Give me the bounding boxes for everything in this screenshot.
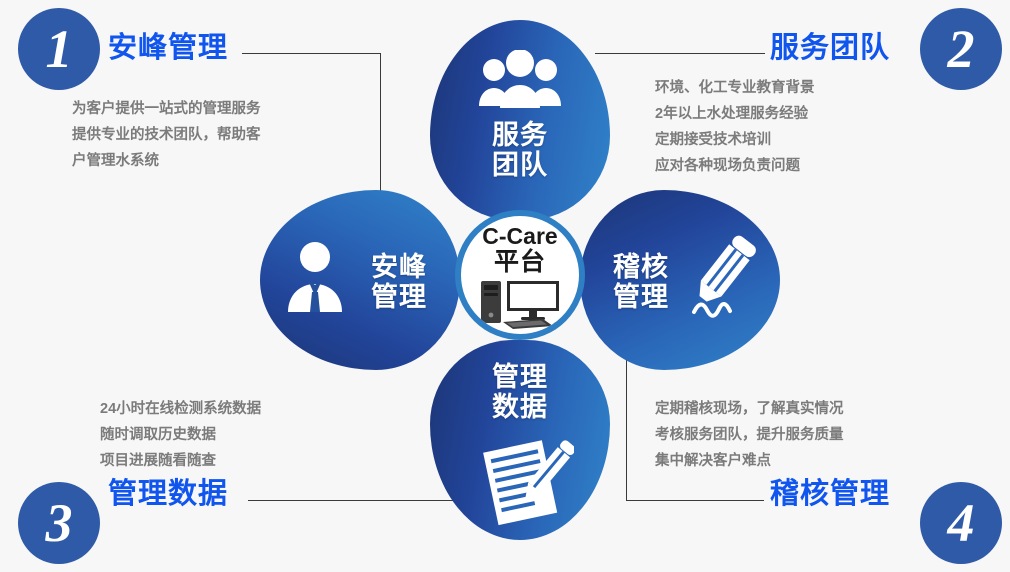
petal-label-line2: 数据	[430, 392, 610, 422]
petal-management-data[interactable]: 管理 数据	[430, 340, 610, 540]
desktop-computer-icon	[477, 277, 563, 331]
petal-label-line2: 管理	[598, 282, 684, 312]
clipboard-pencil-icon	[482, 436, 574, 526]
diagram-stage: 1 2 3 4 安峰管理 服务团队 管理数据 稽核管理 为客户提供一站式的管理服…	[0, 0, 1010, 572]
petal-label-line1: 管理	[430, 362, 610, 392]
section-body-3: 24小时在线检测系统数据 随时调取历史数据 项目进展随看随查	[100, 396, 261, 474]
badge-number-4: 4	[920, 482, 1002, 564]
petal-label-management-data: 管理 数据	[430, 362, 610, 422]
section-body-1: 为客户提供一站式的管理服务 提供专业的技术团队，帮助客 户管理水系统	[72, 96, 261, 174]
businessman-icon	[278, 240, 352, 314]
petal-label-line2: 管理	[356, 282, 442, 312]
petal-audit-management[interactable]: 稽核 管理	[580, 190, 780, 370]
body-line: 24小时在线检测系统数据	[100, 396, 261, 422]
pencil-signature-icon	[684, 232, 766, 324]
body-line: 提供专业的技术团队，帮助客	[72, 122, 261, 148]
petal-label-line1: 稽核	[598, 252, 684, 282]
petal-label-line1: 服务	[430, 120, 610, 150]
body-line: 随时调取历史数据	[100, 422, 261, 448]
badge-number-1: 1	[18, 8, 100, 90]
petal-label-audit-management: 稽核 管理	[598, 252, 684, 312]
flower-diagram: 服务 团队 安峰 管理	[250, 10, 790, 530]
petal-label-line2: 团队	[430, 150, 610, 180]
petal-label-line1: 安峰	[356, 252, 442, 282]
hub-brand-text: C-Care	[482, 225, 557, 248]
section-title-3: 管理数据	[108, 470, 228, 512]
section-title-1: 安峰管理	[108, 24, 228, 66]
body-line: 项目进展随看随查	[100, 448, 261, 474]
badge-number-2: 2	[920, 8, 1002, 90]
center-hub[interactable]: C-Care 平台	[455, 210, 585, 340]
people-group-icon	[478, 50, 562, 110]
badge-number-3: 3	[18, 482, 100, 564]
body-line: 为客户提供一站式的管理服务	[72, 96, 261, 122]
body-line: 户管理水系统	[72, 148, 261, 174]
hub-brand-cn-text: 平台	[494, 249, 546, 275]
petal-label-anfeng-management: 安峰 管理	[356, 252, 442, 312]
petal-label-service-team: 服务 团队	[430, 120, 610, 180]
